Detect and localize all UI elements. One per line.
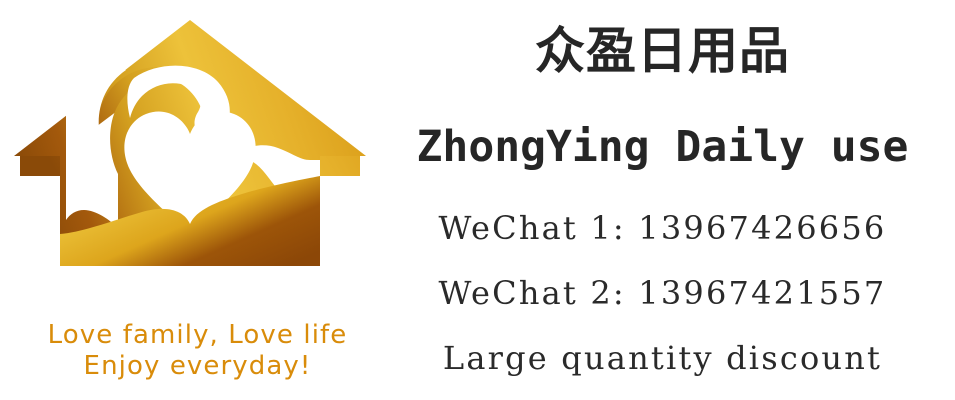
tagline-line-1: Love family, Love life: [0, 320, 395, 351]
text-block: 众盈日用品 ZhongYing Daily use WeChat 1: 1396…: [390, 0, 955, 400]
logo-block: Love family, Love life Enjoy everyday!: [0, 0, 400, 400]
tagline: Love family, Love life Enjoy everyday!: [0, 320, 395, 381]
house-heart-logo-icon: [14, 14, 366, 294]
tagline-line-2: Enjoy everyday!: [0, 351, 395, 382]
chinese-brand-title: 众盈日用品: [390, 26, 935, 76]
wechat-1-line: WeChat 1: 13967426656: [390, 212, 935, 244]
english-brand-title: ZhongYing Daily use: [390, 126, 935, 169]
brand-banner: Love family, Love life Enjoy everyday! 众…: [0, 0, 955, 400]
wechat-2-line: WeChat 2: 13967421557: [390, 277, 935, 309]
discount-note-line: Large quantity discount: [390, 342, 935, 374]
contact-list: WeChat 1: 13967426656 WeChat 2: 13967421…: [390, 212, 935, 374]
